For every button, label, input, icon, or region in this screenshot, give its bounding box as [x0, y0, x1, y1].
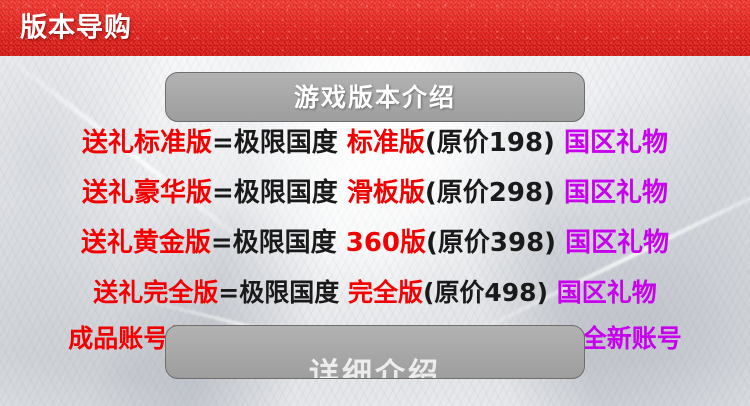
version-row-1[interactable]: 送礼豪华版=极限国度 滑板版(原价298) 国区礼物	[0, 180, 750, 206]
version-row-3-segment-3: (原价498)	[423, 278, 548, 307]
version-row-3-segment-2: 完全版	[348, 278, 423, 307]
version-row-2-segment-1: =极限国度	[211, 228, 346, 258]
version-row-1-segment-0: 送礼豪华版	[82, 178, 212, 208]
version-row-2-segment-3: (原价398)	[426, 228, 556, 258]
version-guide-page: 版本导购 游戏版本介绍 送礼标准版=极限国度 标准版(原价198) 国区礼物 送…	[0, 0, 750, 406]
version-row-1-segment-4: 国区礼物	[555, 178, 668, 208]
version-row-1-segment-1: =极限国度	[212, 178, 347, 208]
version-row-0-segment-4: 国区礼物	[555, 128, 668, 158]
section-footer-label: 详细介绍	[309, 360, 441, 379]
version-row-1-segment-2: 滑板版	[347, 178, 425, 208]
version-row-0[interactable]: 送礼标准版=极限国度 标准版(原价198) 国区礼物	[0, 130, 750, 156]
section-header-label: 游戏版本介绍	[294, 85, 456, 110]
version-row-0-segment-0: 送礼标准版	[82, 128, 212, 158]
version-row-3-segment-0: 送礼完全版	[93, 278, 218, 307]
version-row-2-segment-0: 送礼黄金版	[81, 228, 211, 258]
top-banner: 版本导购	[0, 0, 750, 56]
version-row-3[interactable]: 送礼完全版=极限国度 完全版(原价498) 国区礼物	[0, 280, 750, 305]
version-row-3-segment-4: 国区礼物	[548, 278, 657, 307]
section-footer-capsule: 详细介绍	[165, 325, 585, 379]
section-header-capsule: 游戏版本介绍	[165, 72, 585, 122]
version-row-0-segment-3: (原价198)	[425, 128, 555, 158]
banner-title: 版本导购	[20, 15, 132, 42]
version-row-2[interactable]: 送礼黄金版=极限国度 360版(原价398) 国区礼物	[0, 230, 750, 256]
version-row-1-segment-3: (原价298)	[425, 178, 555, 208]
version-row-2-segment-4: 国区礼物	[556, 228, 669, 258]
version-row-0-segment-1: =极限国度	[212, 128, 347, 158]
version-row-2-segment-2: 360版	[346, 228, 426, 258]
version-row-4-segment-4: 全新账号	[573, 324, 682, 353]
version-row-0-segment-2: 标准版	[347, 128, 425, 158]
version-row-3-segment-1: =极限国度	[218, 278, 348, 307]
